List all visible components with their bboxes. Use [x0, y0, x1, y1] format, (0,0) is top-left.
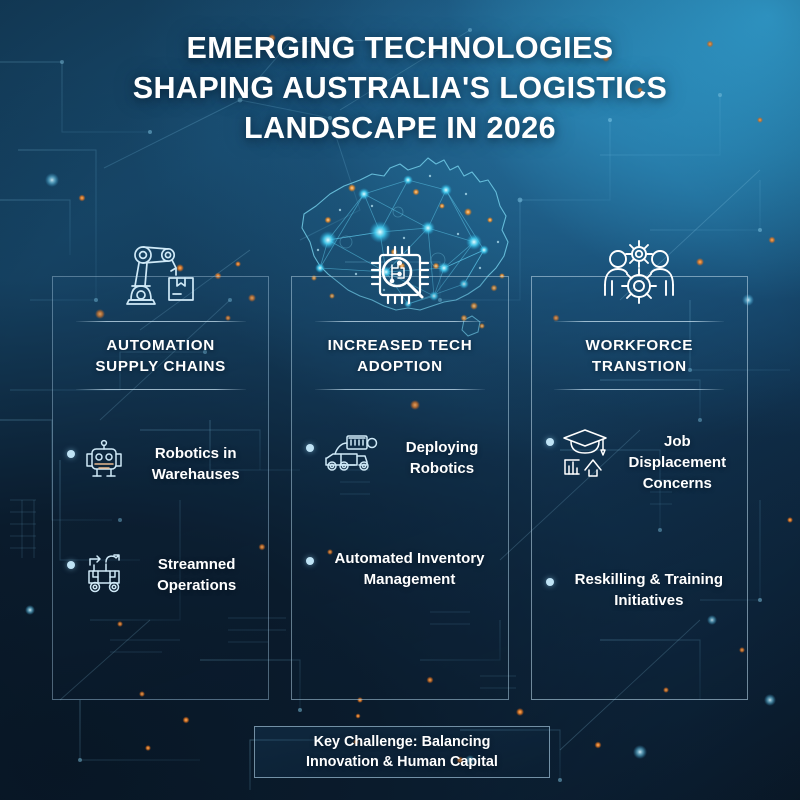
column-workforce-transtion[interactable]: WORKFORCE TRANSTION: [531, 276, 748, 700]
key-challenge-box: Key Challenge: Balancing Innovation & Hu…: [254, 726, 550, 778]
graduation-growth-icon: [561, 426, 611, 478]
list-item[interactable]: Job Displacement Concerns: [532, 424, 747, 494]
bullet-dot: [67, 450, 75, 458]
title-line-3: LANDSCAPE IN 2026: [0, 108, 800, 148]
list-item[interactable]: Automated Inventory Management: [292, 543, 507, 590]
column-automation-supply-chains[interactable]: AUTOMATION SUPPLY CHAINS: [52, 276, 269, 700]
autonomous-vehicle-icon: [321, 432, 379, 476]
column-title: INCREASED TECH ADOPTION: [322, 322, 479, 389]
list-item[interactable]: Reskilling & Training Initiatives: [532, 564, 747, 611]
title-line-1: EMERGING TECHNOLOGIES: [0, 28, 800, 68]
list-item-label: Robotics in Warehauses: [133, 436, 258, 485]
people-gears-icon: [532, 229, 747, 321]
list-item-label: Job Displacement Concerns: [618, 424, 737, 494]
title-line-2: SHAPING AUSTRALIA'S LOGISTICS: [0, 68, 800, 108]
column-items: Robotics in Warehauses: [53, 390, 268, 699]
column-increased-tech-adoption[interactable]: INCREASED TECH ADOPTION: [291, 276, 508, 700]
bullet-dot: [67, 561, 75, 569]
bullet-dot: [306, 557, 314, 565]
column-items: Deploying Robotics Automated Inventory M…: [292, 390, 507, 699]
bullet-dot: [546, 438, 554, 446]
page-title: EMERGING TECHNOLOGIES SHAPING AUSTRALIA'…: [0, 28, 800, 148]
microchip-search-icon: [292, 229, 507, 321]
list-item-label: Automated Inventory Management: [321, 543, 497, 590]
list-item[interactable]: Deploying Robotics: [292, 430, 507, 479]
robot-icon: [82, 438, 126, 482]
column-items: Job Displacement Concerns Reskilling & T…: [532, 390, 747, 699]
cart-flow-icon: [82, 549, 128, 593]
list-item-label: Streamned Operations: [135, 547, 258, 596]
columns-container: AUTOMATION SUPPLY CHAINS: [52, 276, 748, 700]
column-title: AUTOMATION SUPPLY CHAINS: [89, 322, 232, 389]
list-item[interactable]: Streamned Operations: [53, 547, 268, 596]
key-challenge-text: Key Challenge: Balancing Innovation & Hu…: [306, 732, 498, 772]
bullet-dot: [546, 578, 554, 586]
column-title: WORKFORCE TRANSTION: [580, 322, 700, 389]
list-item[interactable]: Robotics in Warehauses: [53, 436, 268, 485]
list-item-label: Reskilling & Training Initiatives: [561, 564, 737, 611]
bullet-dot: [306, 444, 314, 452]
list-item-label: Deploying Robotics: [386, 430, 497, 479]
robotic-arm-icon: [53, 229, 268, 321]
infographic-canvas: EMERGING TECHNOLOGIES SHAPING AUSTRALIA'…: [0, 0, 800, 800]
